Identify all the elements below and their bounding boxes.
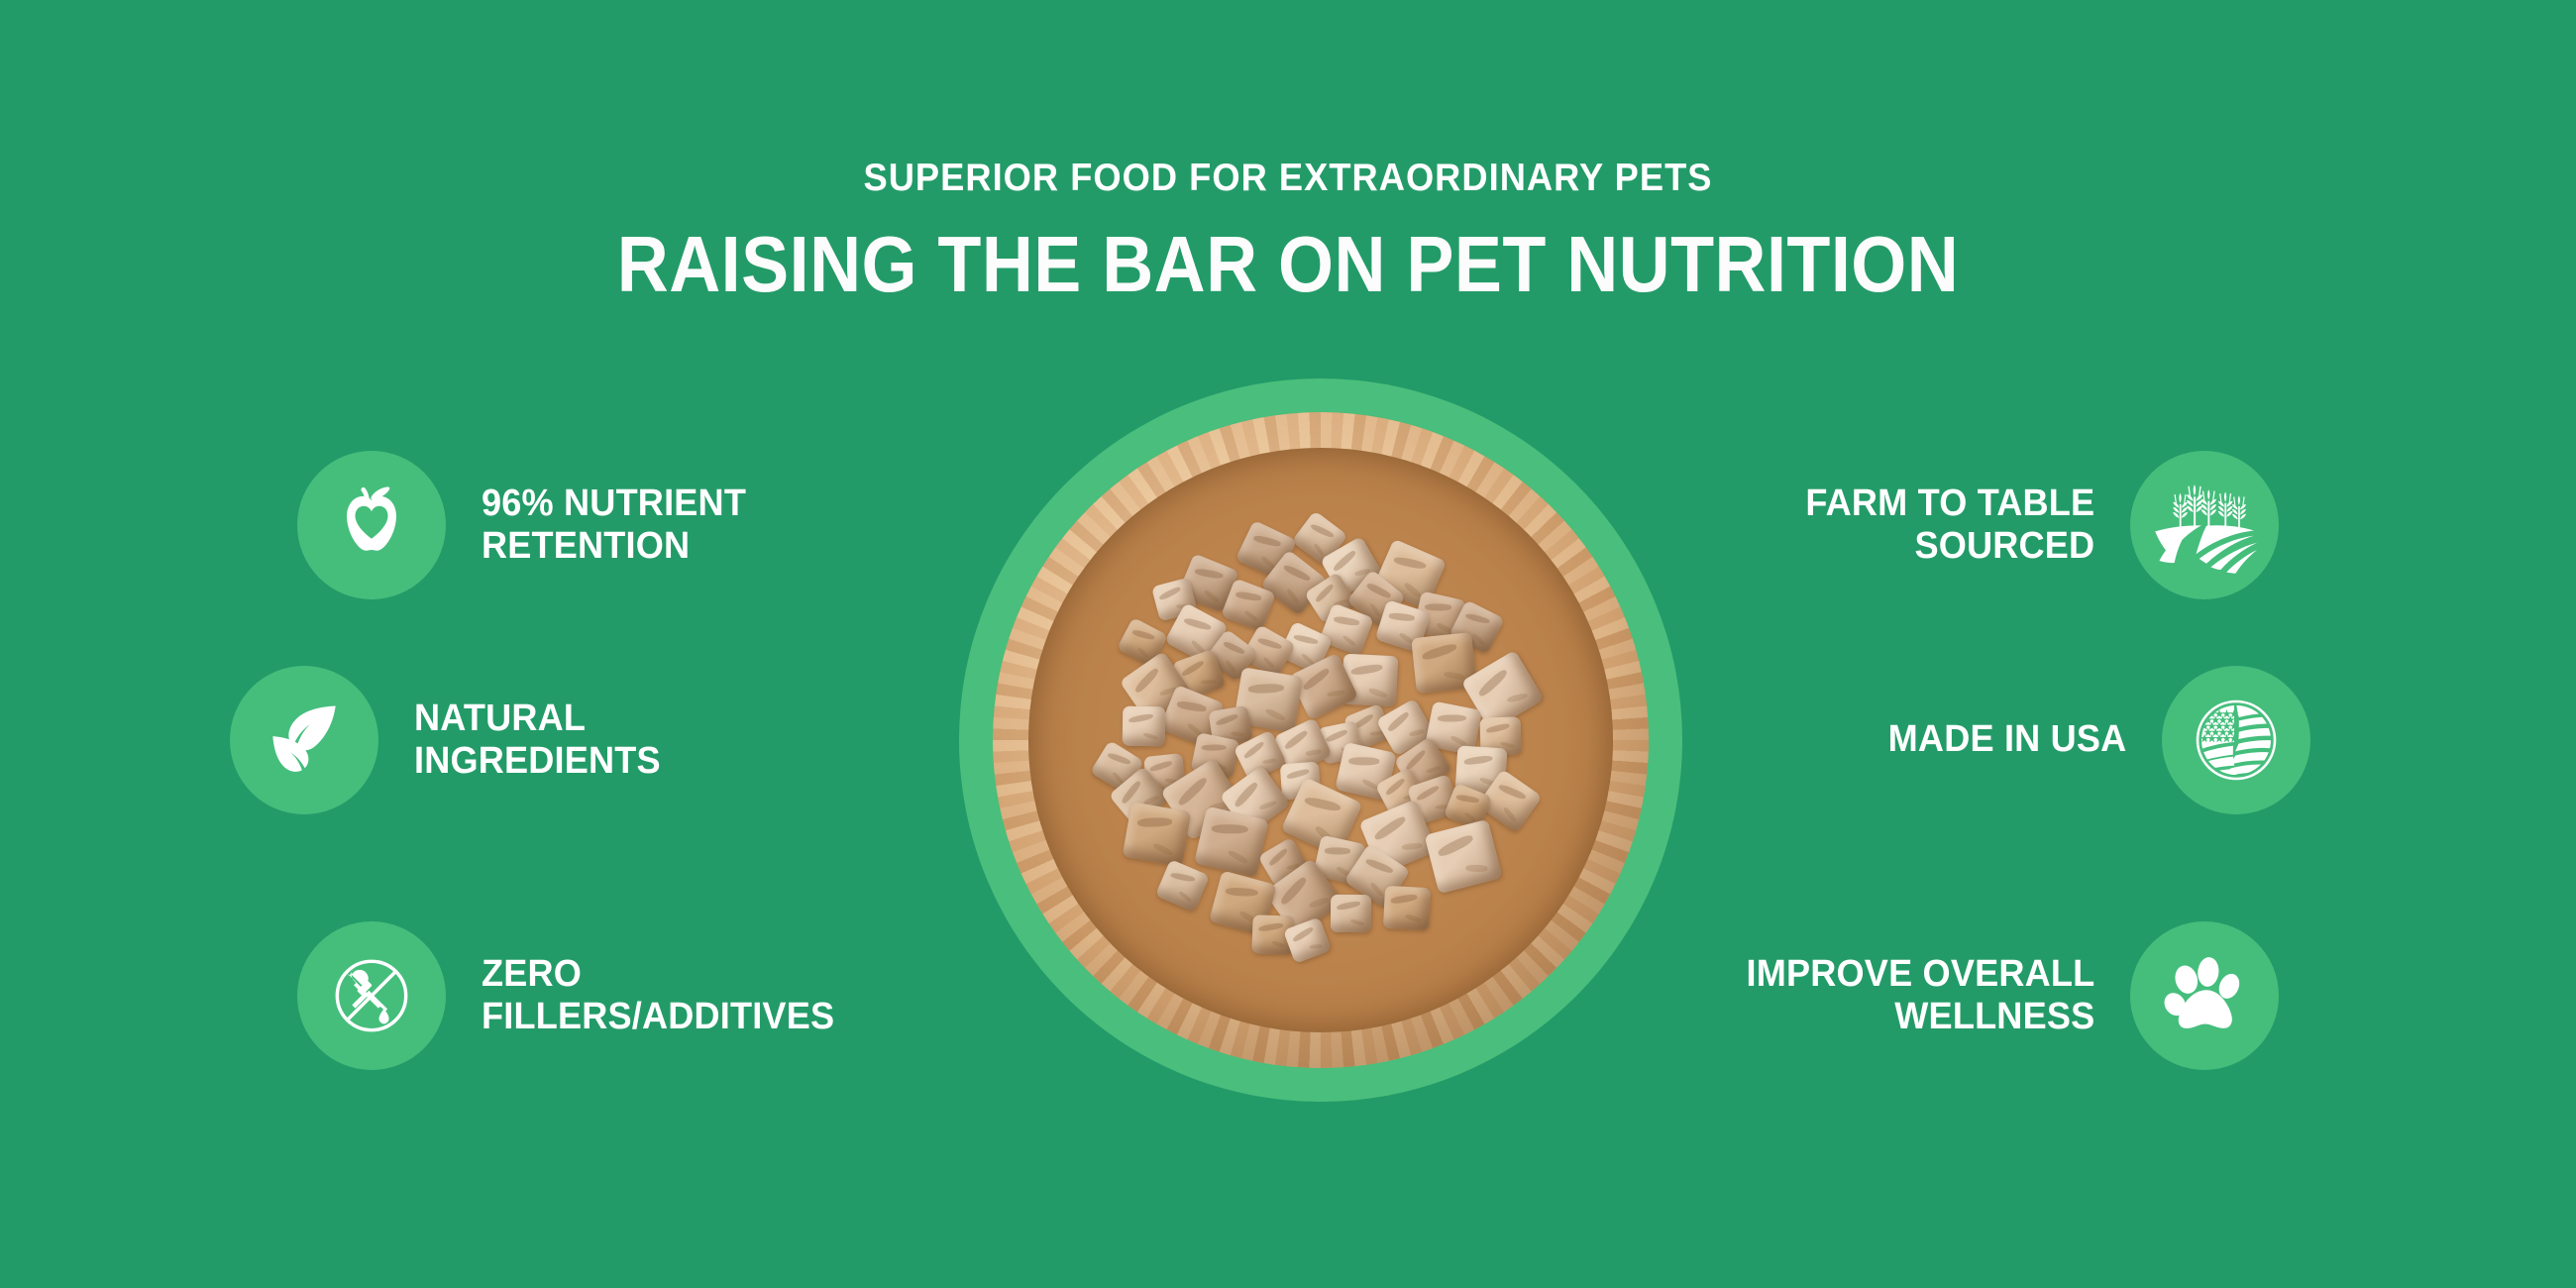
infographic-banner: SUPERIOR FOOD FOR EXTRAORDINARY PETS RAI… — [0, 0, 2576, 1288]
feature-label: 96% NUTRIENT RETENTION — [482, 483, 746, 569]
paw-print-icon — [2130, 921, 2279, 1070]
bowl-interior — [1028, 448, 1612, 1031]
no-dropper-icon — [297, 921, 446, 1070]
kibble-pile — [1052, 472, 1589, 1009]
leaves-icon — [230, 666, 378, 814]
food-cube — [1424, 819, 1502, 894]
page-title: RAISING THE BAR ON PET NUTRITION — [129, 225, 2447, 304]
feature-improve-wellness[interactable]: IMPROVE OVERALL WELLNESS — [1728, 921, 2279, 1070]
feature-made-in-usa[interactable]: MADE IN USA — [1876, 666, 2310, 814]
feature-farm-to-table[interactable]: FARM TO TABLE SOURCED — [1790, 451, 2279, 599]
header: SUPERIOR FOOD FOR EXTRAORDINARY PETS RAI… — [0, 0, 2576, 304]
food-cube — [1331, 895, 1372, 932]
feature-label: MADE IN USA — [1887, 718, 2126, 761]
feature-label: IMPROVE OVERALL WELLNESS — [1746, 953, 2094, 1039]
feature-label: NATURAL INGREDIENTS — [414, 698, 661, 784]
food-bowl-photo — [993, 412, 1649, 1068]
food-cube — [1383, 885, 1431, 929]
hero-bowl — [959, 378, 1682, 1102]
food-cube — [1123, 803, 1192, 868]
eyebrow-text: SUPERIOR FOOD FOR EXTRAORDINARY PETS — [90, 159, 2486, 197]
feature-natural-ingredients[interactable]: NATURAL INGREDIENTS — [230, 666, 674, 814]
feature-label: FARM TO TABLE SOURCED — [1805, 483, 2094, 569]
feature-zero-fillers[interactable]: ZERO FILLERS/ADDITIVES — [297, 921, 853, 1070]
food-cube — [1123, 705, 1166, 746]
feature-label: ZERO FILLERS/ADDITIVES — [482, 953, 834, 1039]
food-cube — [1194, 806, 1268, 878]
usa-flag-badge-icon — [2162, 666, 2310, 814]
apple-heart-icon — [297, 451, 446, 599]
food-cube — [1155, 859, 1210, 912]
wheat-field-icon — [2130, 451, 2279, 599]
feature-nutrient-retention[interactable]: 96% NUTRIENT RETENTION — [297, 451, 760, 599]
